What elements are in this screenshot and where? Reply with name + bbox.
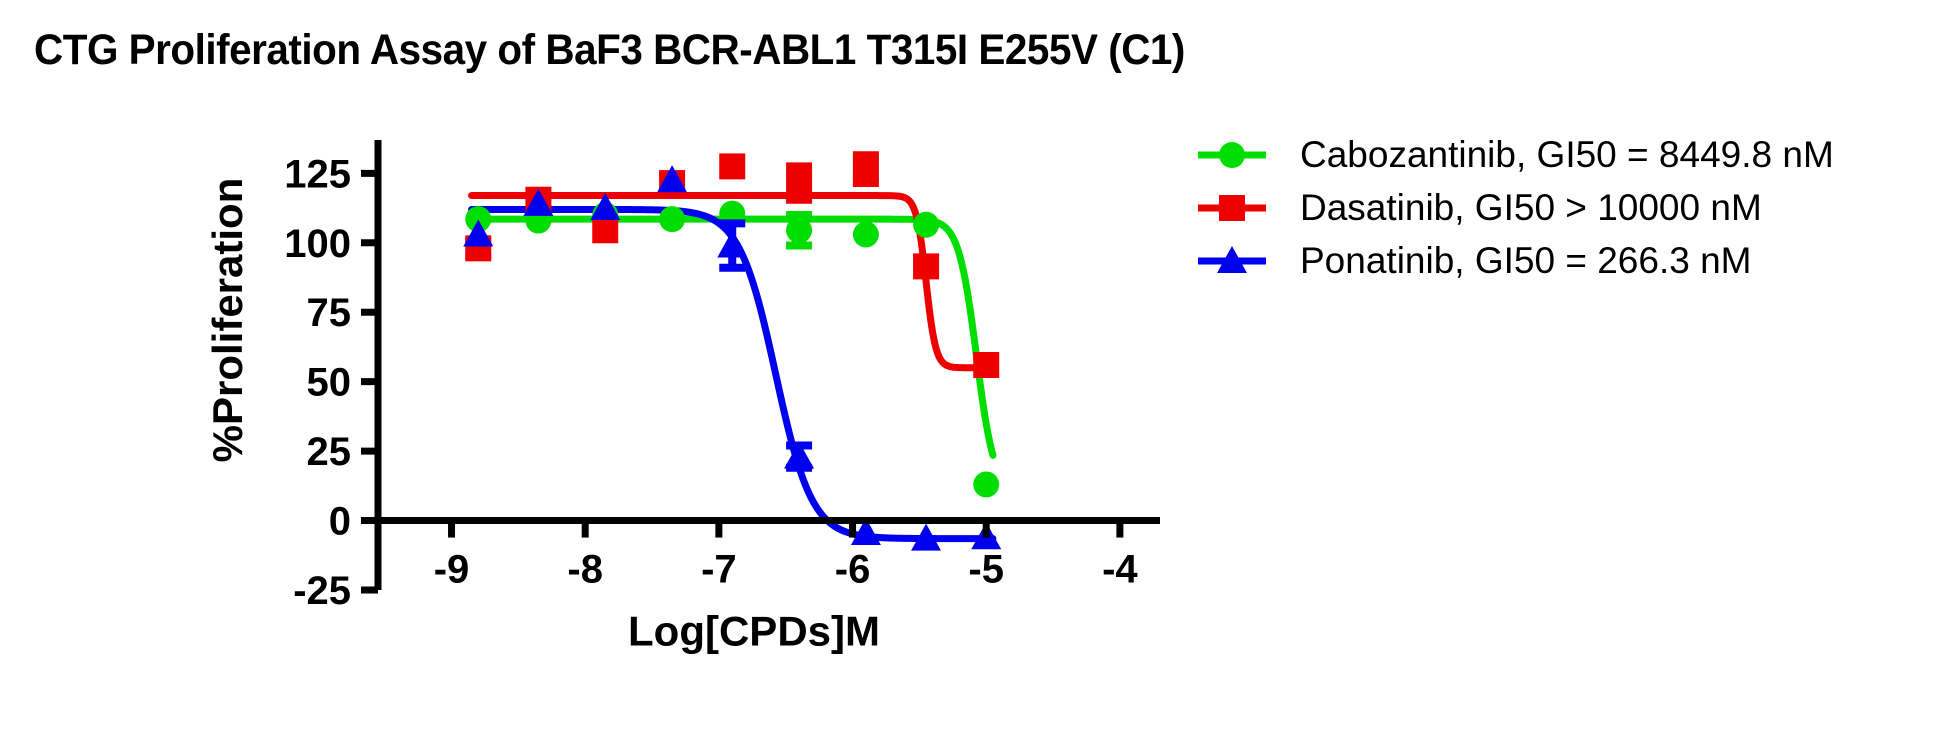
x-tick-label: -9 — [434, 548, 470, 592]
legend-key-circle-icon — [1196, 132, 1268, 178]
y-tick-label: -25 — [293, 569, 351, 613]
data-point-circle — [973, 471, 999, 497]
data-point-square — [719, 153, 745, 179]
data-point-circle — [786, 217, 812, 243]
y-axis-title: %Proliferation — [204, 178, 251, 463]
x-tick-label: -5 — [968, 548, 1004, 592]
data-point-square — [786, 170, 812, 196]
chart-figure: CTG Proliferation Assay of BaF3 BCR-ABL1… — [0, 0, 1955, 750]
data-point-square — [592, 217, 618, 243]
data-point-square — [913, 253, 939, 279]
y-tick-label: 100 — [284, 222, 351, 266]
x-tick-label: -6 — [835, 548, 871, 592]
data-point-circle — [659, 206, 685, 232]
x-axis-title: Log[CPDs]M — [628, 608, 880, 655]
data-point-square — [853, 156, 879, 182]
dose-response-plot: -9-8-7-6-5-4-250255075100125Log[CPDs]M%P… — [0, 0, 1955, 750]
legend-label: Cabozantinib, GI50 = 8449.8 nM — [1300, 136, 1834, 173]
legend-label: Dasatinib, GI50 > 10000 nM — [1300, 189, 1762, 226]
y-tick-label: 125 — [284, 152, 351, 196]
y-tick-label: 25 — [307, 430, 352, 474]
legend-key-square-icon — [1196, 185, 1268, 231]
data-point-square — [973, 352, 999, 378]
y-tick-label: 75 — [307, 291, 352, 335]
x-tick-label: -4 — [1102, 548, 1138, 592]
legend-label: Ponatinib, GI50 = 266.3 nM — [1300, 242, 1752, 279]
legend-key-triangle-icon — [1196, 238, 1268, 284]
data-point-circle — [853, 221, 879, 247]
data-point-triangle — [717, 231, 747, 258]
x-tick-label: -7 — [701, 548, 737, 592]
data-point-circle — [913, 212, 939, 238]
y-tick-label: 50 — [307, 361, 352, 405]
y-tick-label: 0 — [329, 500, 351, 544]
x-tick-label: -8 — [567, 548, 603, 592]
